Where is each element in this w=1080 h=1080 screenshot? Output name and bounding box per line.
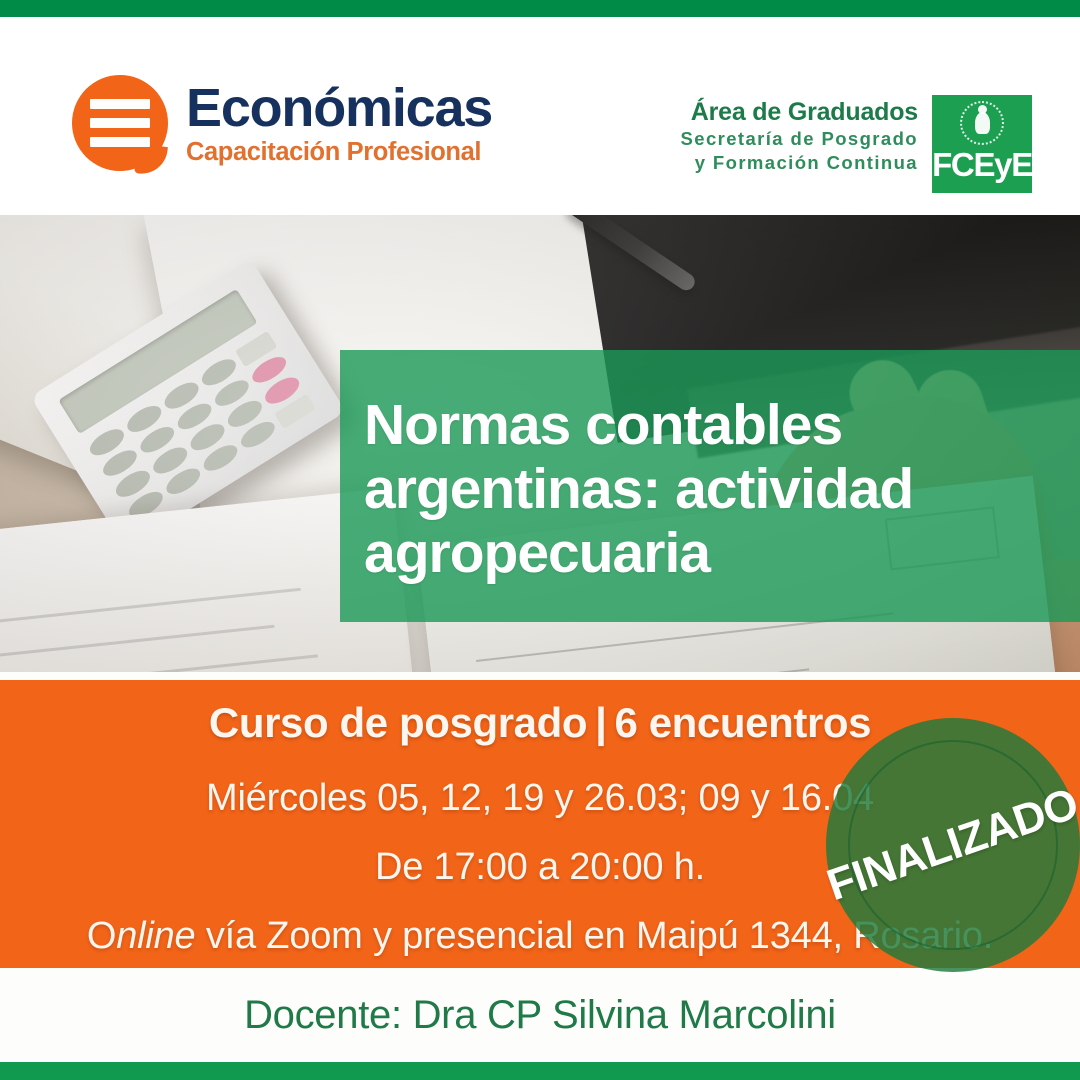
secretaria-line-1: Secretaría de Posgrado xyxy=(681,127,918,151)
headline-divider: | xyxy=(587,699,614,747)
photo-info-divider xyxy=(0,672,1080,680)
modality-prefix: O xyxy=(87,915,116,957)
modality-online-word: nline xyxy=(116,915,195,957)
secondary-logo: Área de Graduados Secretaría de Posgrado… xyxy=(681,95,1032,193)
poster-header: Económicas Capacitación Profesional Área… xyxy=(0,17,1080,215)
economicas-speech-bubble-icon xyxy=(72,75,170,171)
brand-logo: Económicas Capacitación Profesional xyxy=(72,75,492,171)
fceye-badge: FCEyE xyxy=(932,95,1032,193)
area-graduados-title: Área de Graduados xyxy=(681,99,918,127)
docente-label: Docente: Dra CP Silvina Marcolini xyxy=(244,993,836,1038)
docente-band: Docente: Dra CP Silvina Marcolini xyxy=(0,968,1080,1062)
course-type-label: Curso de posgrado xyxy=(209,699,587,746)
hero-title-overlay: Normas contables argentinas: actividad a… xyxy=(340,350,1080,622)
course-sessions-label: 6 encuentros xyxy=(614,699,871,746)
secretaria-line-2: y Formación Continua xyxy=(681,151,918,175)
top-green-rule xyxy=(0,0,1080,17)
fceye-label: FCEyE xyxy=(932,146,1032,184)
page-title: Normas contables argentinas: actividad a… xyxy=(364,394,1080,585)
university-seal-icon xyxy=(960,101,1004,145)
course-poster: Económicas Capacitación Profesional Área… xyxy=(0,0,1080,1080)
status-badge: FINALIZADO xyxy=(826,718,1080,972)
bottom-green-rule xyxy=(0,1062,1080,1080)
brand-name: Económicas xyxy=(186,81,492,136)
brand-tagline: Capacitación Profesional xyxy=(186,138,492,167)
